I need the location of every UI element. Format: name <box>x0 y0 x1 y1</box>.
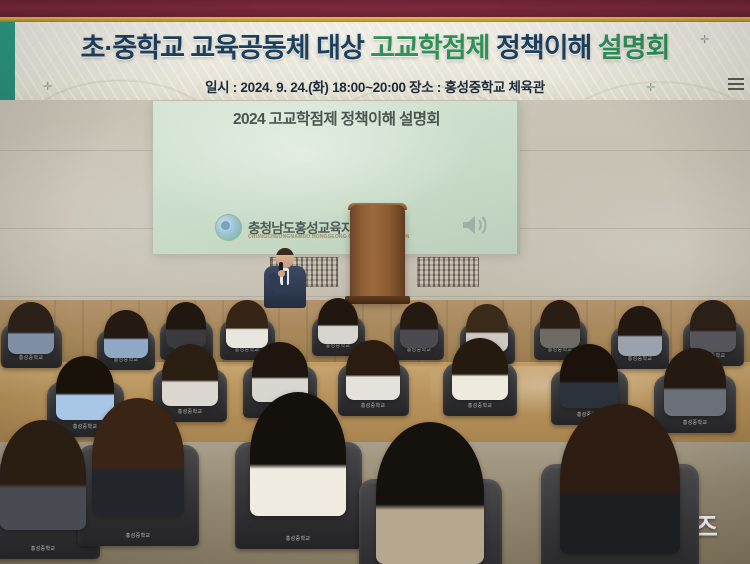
chair-school-label: 홍성중학교 <box>31 545 56 552</box>
audience-member <box>162 344 218 406</box>
gold-rail <box>0 17 750 22</box>
podium-base <box>345 296 410 304</box>
banner-title-part-1: 초·중학교 교육공동체 대상 <box>81 33 371 63</box>
slide-title: 2024 고교학점제 정책이해 설명회 <box>153 107 520 129</box>
chair-school-label: 홍성중학교 <box>683 419 708 426</box>
chair-school-label: 홍성중학교 <box>178 408 203 415</box>
audience-member <box>452 338 508 400</box>
chair-school-label: 홍성중학교 <box>361 402 386 409</box>
audience-member <box>540 300 580 348</box>
chair-school-label: 홍성중학교 <box>286 535 311 542</box>
banner-title-part-2: 고교학점제 <box>370 33 496 63</box>
chair-school-label: 홍성중학교 <box>19 354 44 361</box>
banner-edge-bars <box>728 78 744 90</box>
presenter-with-microphone <box>262 248 308 306</box>
audience-member <box>8 302 54 354</box>
audience-member <box>166 302 206 348</box>
audience-member <box>104 310 148 358</box>
audience-member <box>560 404 680 554</box>
audience-member <box>226 300 268 348</box>
wooden-podium <box>350 205 405 303</box>
audience-member <box>92 398 184 516</box>
chair-school-label: 홍성중학교 <box>126 532 151 539</box>
chair-school-label: 홍성중학교 <box>73 423 98 430</box>
banner-title: 초·중학교 교육공동체 대상 고교학점제 정책이해 설명회 <box>0 27 750 69</box>
chair-school-label: 홍성중학교 <box>468 402 493 409</box>
audience-member <box>376 422 484 564</box>
audience-member <box>250 392 346 516</box>
audience-member <box>56 356 114 420</box>
education-office-emblem-icon <box>215 214 242 241</box>
audience-member <box>664 348 726 416</box>
projection-screen: 2024 고교학점제 정책이해 설명회 충청남도홍성교육지 CHUNGCHEON… <box>153 101 520 254</box>
speaker-volume-icon <box>460 213 488 237</box>
wall-vent-right <box>417 257 479 287</box>
chair-school-label: 홍성중학교 <box>628 355 653 362</box>
crop-mark-icon: ✛ <box>43 82 52 93</box>
ceiling-strip <box>0 0 750 17</box>
audience-member <box>0 420 86 530</box>
audience-member <box>346 340 400 400</box>
audience-member <box>318 298 358 344</box>
presenter-hand <box>278 270 285 277</box>
crop-mark-icon: ✛ <box>700 35 709 46</box>
photograph: 2024 고교학점제 정책이해 설명회 충청남도홍성교육지 CHUNGCHEON… <box>0 0 750 564</box>
audience-member <box>560 344 618 408</box>
crop-mark-icon: ✛ <box>646 83 655 94</box>
audience-member <box>618 306 662 356</box>
banner-title-part-3: 정책이해 <box>496 33 598 63</box>
audience-member <box>400 302 438 348</box>
audience-member <box>690 300 736 352</box>
banner-title-part-4: 설명회 <box>598 33 670 63</box>
banner-subtitle: 일시 : 2024. 9. 24.(화) 18:00~20:00 장소 : 홍성… <box>0 76 750 96</box>
